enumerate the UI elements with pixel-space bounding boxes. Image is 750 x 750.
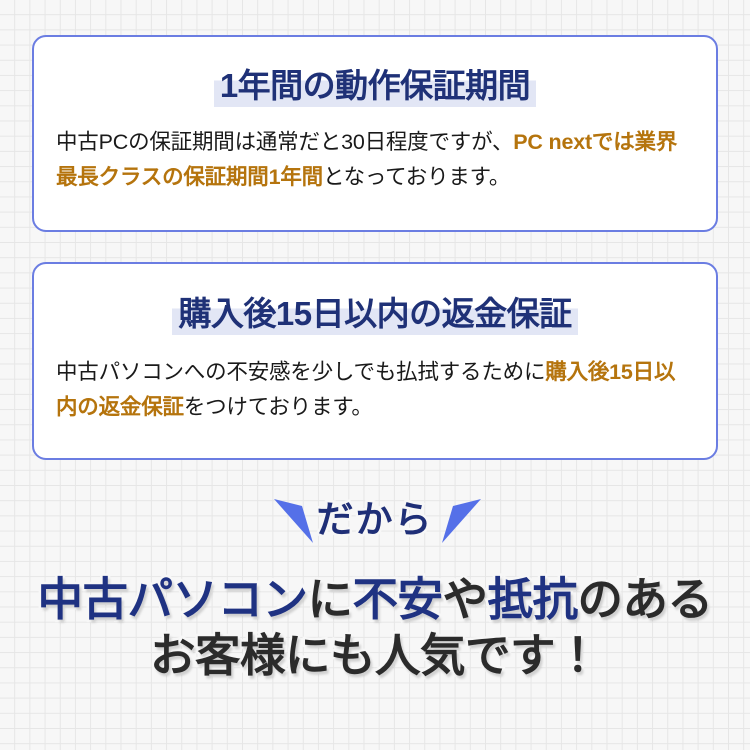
headline-line-1: 中古パソコンに不安や抵抗のある — [0, 572, 750, 628]
card-2-title: 購入後15日以内の返金保証 — [34, 264, 716, 330]
headline-seg-1: 中古パソコン — [37, 574, 307, 625]
angled-arrow-right-icon — [437, 493, 483, 547]
card-2-title-text: 購入後15日以内の返金保証 — [172, 295, 577, 335]
card-2-body-seg-3: をつけております。 — [184, 395, 373, 419]
warranty-card-1: 1年間の動作保証期間 中古PCの保証期間は通常だと30日程度ですが、PC nex… — [32, 35, 718, 232]
headline-line-2: お客様にも人気です！ — [0, 628, 750, 684]
card-1-title: 1年間の動作保証期間 — [34, 37, 716, 102]
headline-seg-5: 抵抗 — [488, 574, 578, 625]
card-2-body-seg-1: 中古パソコンへの不安感を少しでも払拭するために — [56, 360, 545, 384]
bottom-headline: 中古パソコンに不安や抵抗のある お客様にも人気です！ — [0, 572, 750, 684]
card-1-body-seg-2: PC next — [513, 130, 592, 154]
card-1-body: 中古PCの保証期間は通常だと30日程度ですが、PC nextでは業界最長クラスの… — [34, 102, 716, 195]
card-1-body-seg-4: となっております。 — [323, 165, 510, 189]
connector-label: だから — [0, 489, 750, 551]
card-1-title-text: 1年間の動作保証期間 — [214, 67, 536, 107]
connector-band: だから — [0, 489, 750, 551]
warranty-card-2: 購入後15日以内の返金保証 中古パソコンへの不安感を少しでも払拭するために購入後… — [32, 262, 718, 460]
headline-seg-4: や — [443, 574, 488, 625]
headline-seg-7: お客様にも人気です！ — [150, 630, 600, 681]
headline-seg-3: 不安 — [352, 574, 442, 625]
card-1-body-seg-1: 中古PCの保証期間は通常だと30日程度ですが、 — [56, 130, 513, 154]
card-2-body: 中古パソコンへの不安感を少しでも払拭するために購入後15日以内の返金保証をつけて… — [34, 330, 716, 425]
headline-seg-6: のある — [578, 574, 713, 625]
headline-seg-2: に — [307, 574, 352, 625]
